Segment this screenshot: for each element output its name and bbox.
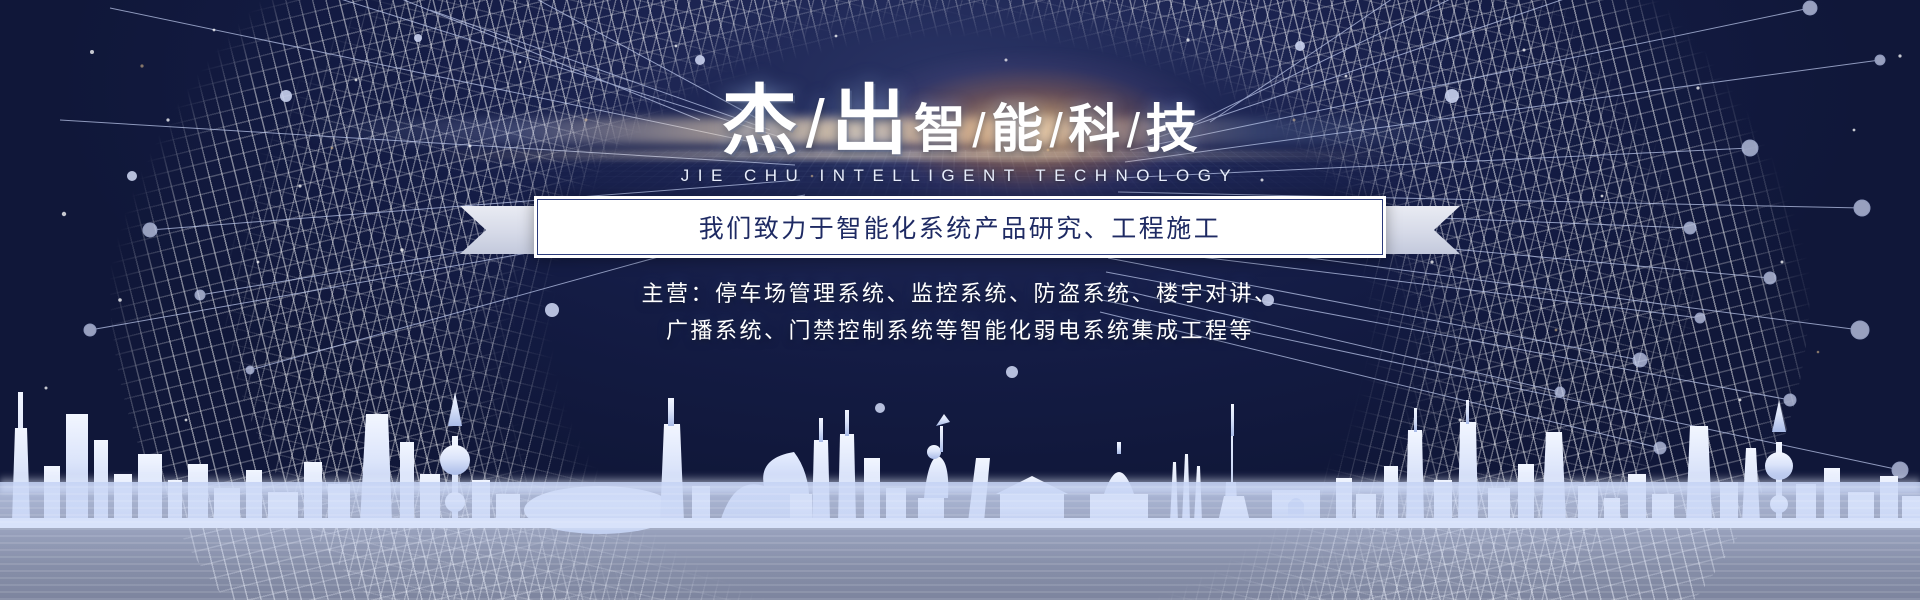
title-char-ke: 科 [1068, 101, 1121, 159]
title-char-chu: 出 [831, 79, 909, 164]
title-char-zhi: 智 [914, 101, 967, 159]
title-separator-3: / [1048, 105, 1063, 158]
title-separator-4: / [1126, 105, 1141, 158]
subtitle-english: JIE CHU INTELLIGENT TECHNOLOGY [0, 166, 1920, 186]
title-separator: / [804, 86, 827, 162]
ribbon-inner-border: 我们致力于智能化系统产品研究、工程施工 [537, 199, 1383, 255]
title-char-jie: 杰 [721, 79, 799, 164]
page-title: 杰 / 出 智 / 能 / 科 / 技 [0, 84, 1920, 160]
ribbon-slogan-text: 我们致力于智能化系统产品研究、工程施工 [699, 209, 1222, 245]
title-char-neng: 能 [991, 101, 1044, 159]
description-line-2: 广播系统、门禁控制系统等智能化弱电系统集成工程等 [0, 312, 1920, 349]
title-char-ji: 技 [1146, 101, 1199, 159]
ribbon-body: 我们致力于智能化系统产品研究、工程施工 [534, 196, 1386, 258]
hero-banner: 杰 / 出 智 / 能 / 科 / 技 JIE CHU INTELLIGENT … [0, 0, 1920, 600]
slogan-ribbon: 我们致力于智能化系统产品研究、工程施工 [460, 196, 1460, 258]
world-landmarks-skyline [0, 370, 1920, 600]
title-separator-2: / [971, 105, 986, 158]
description-block: 主营：停车场管理系统、监控系统、防盗系统、楼宇对讲、 广播系统、门禁控制系统等智… [0, 275, 1920, 349]
water-shimmer [0, 482, 1920, 600]
description-line-1: 主营：停车场管理系统、监控系统、防盗系统、楼宇对讲、 [0, 275, 1920, 312]
